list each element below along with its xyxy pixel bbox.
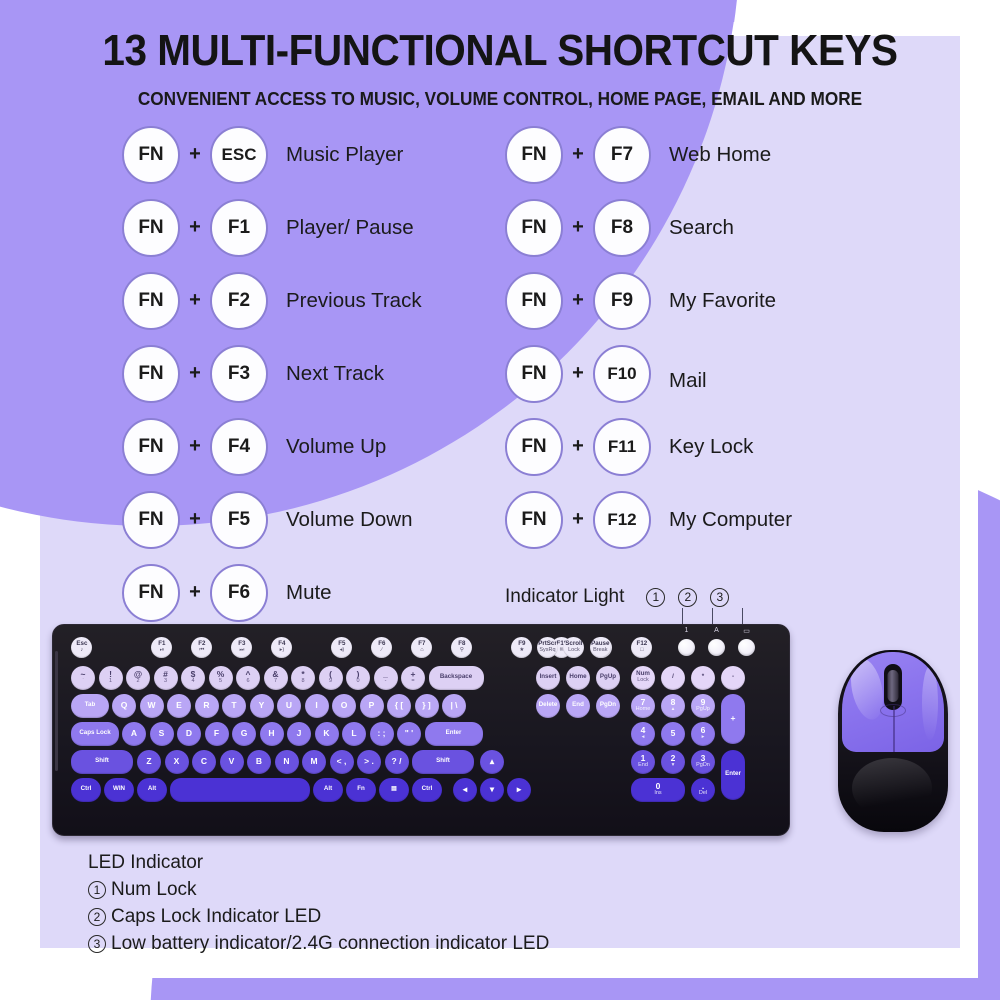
key-secondary-legend: ★ [519, 648, 524, 654]
key-primary-legend: ◂ [463, 785, 467, 794]
keyboard-key-letter: W [140, 694, 164, 718]
keyboard-key-letter: } ] [415, 694, 439, 718]
keyboard-key-caps-lock: Caps Lock [71, 722, 119, 746]
keyboard-key-letter: U [277, 694, 301, 718]
key-primary-legend: Enter [725, 771, 741, 778]
key-primary-legend: Shift [436, 758, 450, 765]
mouse-highlight-right [922, 666, 938, 740]
key-primary-legend: End [572, 702, 584, 709]
key-secondary-legend: ⏯ [160, 648, 164, 654]
shortcut-function-key: ESC [210, 126, 268, 184]
led-legend-marker: 1 [88, 881, 106, 899]
shortcut-function-key: F10 [593, 345, 651, 403]
keyboard-key-letter: C [192, 750, 216, 774]
keyboard-key-number: !1 [99, 666, 123, 690]
shortcut-action-label: Search [669, 216, 734, 240]
keyboard-key-arrow-down: ▾ [480, 778, 504, 802]
keyboard-key-alt-right: Alt [313, 778, 343, 802]
plus-symbol: + [563, 289, 593, 312]
keyboard-key-letter: " ' [397, 722, 421, 746]
keyboard-key-letter: ? / [385, 750, 409, 774]
key-primary-legend: U [286, 701, 292, 710]
keyboard-key-arrow-right: ▸ [507, 778, 531, 802]
keyboard-key-alt-left: Alt [137, 778, 167, 802]
key-primary-legend: X [174, 757, 180, 766]
keyboard-key-numpad: 4◂ [631, 722, 655, 746]
led-glyph-icon: 1 [678, 627, 695, 634]
led-legend-item: 3Low battery indicator/2.4G connection i… [88, 931, 549, 958]
shortcut-action-label: Player/ Pause [286, 216, 414, 240]
key-secondary-legend: 4 [191, 679, 194, 685]
mouse-lower-highlight [852, 758, 932, 818]
key-primary-legend: B [256, 757, 262, 766]
shortcut-row: FN+F11Key Lock [505, 410, 792, 483]
keyboard-key-fn: Fn [346, 778, 376, 802]
shortcut-row: FN+ESCMusic Player [122, 118, 422, 191]
shortcut-action-label: Previous Track [286, 289, 422, 313]
shortcut-row: FN+F12My Computer [505, 483, 792, 556]
key-primary-legend: Y [259, 701, 265, 710]
keyboard-key-number: ^6 [236, 666, 260, 690]
key-primary-legend: Backspace [440, 674, 472, 681]
led-legend-text: Num Lock [111, 879, 197, 900]
shortcut-row: FN+F3Next Track [122, 337, 422, 410]
key-secondary-legend: ▸) [280, 648, 285, 654]
keyboard-key-letter: < , [330, 750, 354, 774]
plus-symbol: + [180, 435, 210, 458]
keyboard-led-indicator [678, 639, 695, 656]
key-primary-legend: M [310, 757, 317, 766]
keyboard-key-number: (9 [319, 666, 343, 690]
indicator-marker-group: 123 [646, 588, 729, 607]
keyboard-key-numpad-enter: Enter [721, 750, 745, 800]
keyboard-key-number: *8 [291, 666, 315, 690]
key-primary-legend: { [ [395, 701, 404, 710]
shortcut-modifier-key: FN [505, 418, 563, 476]
keyboard-key-letter: I [305, 694, 329, 718]
led-legend-item: 2Caps Lock Indicator LED [88, 904, 549, 931]
key-secondary-legend: ⏭ [239, 648, 244, 654]
led-legend-marker: 2 [88, 908, 106, 926]
keyboard-key-system: ScrollLock [563, 637, 584, 658]
keyboard-key-nav: End [566, 694, 590, 718]
keyboard-key-ctrl-right: Ctrl [412, 778, 442, 802]
keyboard-key-numpad: 2▾ [661, 750, 685, 774]
key-primary-legend: E [176, 701, 182, 710]
key-primary-legend: K [323, 729, 329, 738]
key-primary-legend: ▤ [391, 786, 397, 793]
shortcut-function-key: F7 [593, 126, 651, 184]
key-primary-legend: S [159, 729, 165, 738]
keyboard-key-numpad: 6▸ [691, 722, 715, 746]
shortcut-function-key: F4 [210, 418, 268, 476]
keyboard-key-number: $4 [181, 666, 205, 690]
key-secondary-legend: 6 [246, 679, 249, 685]
key-secondary-legend: □ [640, 648, 643, 654]
keyboard-key-letter: B [247, 750, 271, 774]
shortcut-modifier-key: FN [122, 418, 180, 476]
plus-symbol: + [563, 362, 593, 385]
keyboard-key-letter: > . [357, 750, 381, 774]
key-secondary-legend: 8 [301, 679, 304, 685]
indicator-marker: 3 [710, 588, 729, 607]
shortcut-function-key: F2 [210, 272, 268, 330]
keyboard-key-shift-right: Shift [412, 750, 474, 774]
key-secondary-legend: - [385, 679, 387, 685]
key-secondary-legend: ` [82, 679, 84, 685]
keyboard-key-number: )0 [346, 666, 370, 690]
keyboard-key-letter: K [315, 722, 339, 746]
shortcut-modifier-key: FN [505, 272, 563, 330]
shortcut-row: FN+F1Player/ Pause [122, 191, 422, 264]
keyboard-key-tab: Tab [71, 694, 109, 718]
key-primary-legend: } ] [422, 701, 431, 710]
mouse-top-shell [842, 652, 944, 752]
keyboard-key-number: _- [374, 666, 398, 690]
keyboard-key-system: PrtScrSysRq [537, 637, 558, 658]
indicator-light-label: Indicator Light [505, 586, 624, 608]
indicator-marker: 1 [646, 588, 665, 607]
plus-symbol: + [563, 435, 593, 458]
key-primary-legend: ▸ [517, 785, 521, 794]
keyboard-key-fn-row: F3⏭ [231, 637, 252, 658]
led-legend-heading: LED Indicator [88, 850, 549, 877]
page-title: 13 MULTI-FUNCTIONAL SHORTCUT KEYS [40, 26, 960, 76]
plus-symbol: + [180, 362, 210, 385]
header: 13 MULTI-FUNCTIONAL SHORTCUT KEYS CONVEN… [0, 0, 1000, 110]
key-primary-legend: Caps Lock [79, 730, 110, 737]
led-glyph-icon: A [708, 627, 725, 634]
key-primary-legend: Enter [446, 730, 462, 737]
keyboard-key-numpad: 1End [631, 750, 655, 774]
led-legend-text: Low battery indicator/2.4G connection in… [111, 933, 549, 954]
keyboard-key-numpad: * [691, 666, 715, 690]
key-primary-legend: ? / [392, 757, 402, 766]
keyboard-key-fn-row: F9★ [511, 637, 532, 658]
key-primary-legend: Tab [85, 702, 96, 709]
keyboard-key-fn-row: F4▸) [271, 637, 292, 658]
key-primary-legend: J [297, 729, 302, 738]
shortcut-row: FN+F5Volume Down [122, 483, 422, 556]
key-primary-legend: ▴ [490, 757, 494, 766]
key-primary-legend: Delete [539, 702, 558, 709]
plus-symbol: + [180, 289, 210, 312]
shortcut-modifier-key: FN [505, 491, 563, 549]
key-primary-legend: / [672, 674, 674, 681]
keyboard-key-letter: Q [112, 694, 136, 718]
keyboard-key-letter: X [165, 750, 189, 774]
key-primary-legend: F [214, 729, 219, 738]
key-secondary-legend: 2 [136, 679, 139, 685]
key-primary-legend: G [241, 729, 248, 738]
key-secondary-legend: Ins [654, 791, 661, 797]
keyboard-key-win: WIN [104, 778, 134, 802]
key-secondary-legend: ⌂ [420, 648, 423, 654]
shortcut-function-key: F11 [593, 418, 651, 476]
key-primary-legend: Alt [148, 786, 156, 793]
keyboard-key-nav: Insert [536, 666, 560, 690]
keyboard-product-image: Esc♪F1⏯F2⏮F3⏭F4▸)F5◂)F6∕F7⌂F8⚲F9★F10✉F11… [52, 624, 790, 836]
shortcut-modifier-key: FN [122, 199, 180, 257]
plus-symbol: + [180, 508, 210, 531]
keyboard-key-fn-row: F1⏯ [151, 637, 172, 658]
shortcut-modifier-key: FN [505, 126, 563, 184]
key-primary-legend: 5 [671, 729, 676, 738]
keyboard-key-fn-row: Esc♪ [71, 637, 92, 658]
shortcut-row: FN+F8Search [505, 191, 792, 264]
key-primary-legend: Fn [357, 786, 365, 793]
shortcut-action-label: My Computer [669, 508, 792, 532]
keyboard-key-letter: J [287, 722, 311, 746]
keyboard-key-numpad-decimal: .Del [691, 778, 715, 802]
shortcut-action-label: Mute [286, 581, 332, 605]
key-secondary-legend: PgUp [696, 707, 710, 713]
led-glyph-icon: ▭ [738, 627, 755, 635]
shortcut-action-label: Volume Down [286, 508, 412, 532]
keyboard-key-number: #3 [154, 666, 178, 690]
keyboard-key-letter: N [275, 750, 299, 774]
keyboard-key-numpad: 9PgUp [691, 694, 715, 718]
shortcut-row: FN+F6Mute [122, 556, 422, 629]
key-secondary-legend: End [638, 763, 648, 769]
keyboard-key-fn-row: F7⌂ [411, 637, 432, 658]
keyboard-key-number: ~` [71, 666, 95, 690]
keyboard-key-numpad: 5 [661, 722, 685, 746]
keyboard-key-number: += [401, 666, 425, 690]
keyboard-key-letter: Z [137, 750, 161, 774]
key-primary-legend: > . [364, 757, 374, 766]
keyboard-key-letter: { [ [387, 694, 411, 718]
keyboard-key-letter: L [342, 722, 366, 746]
key-secondary-legend: ⏮ [199, 648, 204, 654]
key-primary-legend: PgUp [600, 674, 616, 681]
keyboard-key-nav: PgDn [596, 694, 620, 718]
shortcut-function-key: F1 [210, 199, 268, 257]
keyboard-key-letter: A [122, 722, 146, 746]
keyboard-key-letter: | \ [442, 694, 466, 718]
key-primary-legend: WIN [113, 786, 125, 793]
key-secondary-legend: 3 [164, 679, 167, 685]
led-legend-item: 1Num Lock [88, 877, 549, 904]
key-primary-legend: N [283, 757, 289, 766]
keyboard-key-nav: Delete [536, 694, 560, 718]
shortcut-action-label: Key Lock [669, 435, 753, 459]
plus-symbol: + [563, 143, 593, 166]
key-secondary-legend: ◂ [642, 735, 645, 741]
keyboard-key-nav: Home [566, 666, 590, 690]
key-secondary-legend: ▾ [672, 763, 675, 769]
key-primary-legend: C [201, 757, 207, 766]
key-secondary-legend: Break [593, 648, 607, 654]
indicator-marker: 2 [678, 588, 697, 607]
keyboard-key-fn-row: F12□ [631, 637, 652, 658]
shortcut-function-key: F3 [210, 345, 268, 403]
plus-symbol: + [180, 216, 210, 239]
plus-symbol: + [180, 581, 210, 604]
key-secondary-legend: Home [636, 707, 651, 713]
shortcut-modifier-key: FN [122, 345, 180, 403]
shortcut-row: FN+F9My Favorite [505, 264, 792, 337]
key-secondary-legend: Lock [568, 648, 580, 654]
page-subtitle: CONVENIENT ACCESS TO MUSIC, VOLUME CONTR… [35, 88, 965, 110]
shortcut-function-key: F8 [593, 199, 651, 257]
key-primary-legend: Z [146, 757, 151, 766]
keyboard-key-letter: D [177, 722, 201, 746]
key-primary-legend: P [369, 701, 375, 710]
key-secondary-legend: 7 [274, 679, 277, 685]
keyboard-key-letter: : ; [370, 722, 394, 746]
key-primary-legend: A [131, 729, 137, 738]
keyboard-key-numpad-zero: 0Ins [631, 778, 685, 802]
shortcut-row: FN+F10Mail [505, 337, 792, 410]
shortcut-action-label: Music Player [286, 143, 403, 167]
key-primary-legend: Home [569, 674, 586, 681]
key-primary-legend: I [315, 701, 317, 710]
keyboard-led-indicator [738, 639, 755, 656]
key-secondary-legend: ◂) [340, 648, 345, 654]
keyboard-key-letter: Y [250, 694, 274, 718]
key-primary-legend: : ; [377, 729, 385, 738]
shortcut-action-label: My Favorite [669, 289, 776, 313]
shortcut-list: FN+ESCMusic PlayerFN+F1Player/ PauseFN+F… [0, 118, 1000, 618]
keyboard-key-letter: E [167, 694, 191, 718]
keyboard-key-numpad: / [661, 666, 685, 690]
keyboard-key-system: PauseBreak [590, 637, 611, 658]
keyboard-key-menu: ▤ [379, 778, 409, 802]
shortcut-action-label: Volume Up [286, 435, 386, 459]
keyboard-key-spacebar [170, 778, 310, 802]
indicator-light-callout: Indicator Light 123 [505, 586, 729, 608]
key-primary-legend: Q [121, 701, 128, 710]
key-secondary-legend: ⚲ [460, 648, 464, 654]
led-legend: LED Indicator 1Num Lock 2Caps Lock Indic… [88, 850, 549, 958]
shortcut-function-key: F6 [210, 564, 268, 622]
shortcut-modifier-key: FN [505, 345, 563, 403]
key-secondary-legend: 1 [109, 679, 112, 685]
keyboard-key-numpad: 8▴ [661, 694, 685, 718]
key-primary-legend: Ctrl [81, 786, 92, 793]
plus-symbol: + [180, 143, 210, 166]
keyboard-key-fn-row: F5◂) [331, 637, 352, 658]
plus-symbol: + [563, 508, 593, 531]
shortcut-column-left: FN+ESCMusic PlayerFN+F1Player/ PauseFN+F… [122, 118, 422, 629]
keyboard-key-backspace: Backspace [429, 666, 484, 690]
mouse-product-image [838, 650, 948, 832]
shortcut-modifier-key: FN [122, 491, 180, 549]
key-secondary-legend: 9 [329, 679, 332, 685]
led-legend-text: Caps Lock Indicator LED [111, 906, 321, 927]
key-secondary-legend: = [411, 679, 414, 685]
key-primary-legend: - [732, 674, 734, 681]
keyboard-key-letter: P [360, 694, 384, 718]
led-legend-marker: 3 [88, 935, 106, 953]
keyboard-key-letter: H [260, 722, 284, 746]
key-primary-legend: L [351, 729, 356, 738]
keyboard-keys: Esc♪F1⏯F2⏮F3⏭F4▸)F5◂)F6∕F7⌂F8⚲F9★F10✉F11… [53, 625, 789, 835]
shortcut-row: FN+F2Previous Track [122, 264, 422, 337]
keyboard-key-letter: M [302, 750, 326, 774]
key-secondary-legend: Lock [637, 678, 649, 684]
keyboard-key-number: @2 [126, 666, 150, 690]
key-primary-legend: | \ [450, 701, 457, 710]
keyboard-key-fn-row: F6∕ [371, 637, 392, 658]
shortcut-modifier-key: FN [122, 272, 180, 330]
keyboard-key-fn-row: F8⚲ [451, 637, 472, 658]
key-primary-legend: D [186, 729, 192, 738]
key-primary-legend: Insert [540, 674, 557, 681]
key-primary-legend: + [731, 714, 736, 723]
shortcut-function-key: F9 [593, 272, 651, 330]
keyboard-key-number: %5 [209, 666, 233, 690]
key-primary-legend: Alt [324, 786, 332, 793]
shortcut-action-label: Web Home [669, 143, 771, 167]
keyboard-key-ctrl-left: Ctrl [71, 778, 101, 802]
keyboard-key-numpad-plus: + [721, 694, 745, 744]
key-secondary-legend: SysRq [539, 648, 555, 654]
key-secondary-legend: Del [699, 791, 707, 797]
key-secondary-legend: ∕ [381, 648, 382, 654]
key-secondary-legend: ♪ [81, 648, 84, 654]
plus-symbol: + [563, 216, 593, 239]
shortcut-function-key: F12 [593, 491, 651, 549]
shortcut-column-right: FN+F7Web HomeFN+F8SearchFN+F9My Favorite… [505, 118, 792, 556]
keyboard-key-letter: R [195, 694, 219, 718]
infographic-canvas: 13 MULTI-FUNCTIONAL SHORTCUT KEYS CONVEN… [0, 0, 1000, 1000]
keyboard-key-letter: S [150, 722, 174, 746]
key-primary-legend: T [231, 701, 236, 710]
keyboard-key-enter: Enter [425, 722, 483, 746]
key-secondary-legend: PgDn [696, 763, 710, 769]
key-primary-legend: H [268, 729, 274, 738]
shortcut-row: FN+F7Web Home [505, 118, 792, 191]
keyboard-key-nav: PgUp [596, 666, 620, 690]
keyboard-key-fn-row: F2⏮ [191, 637, 212, 658]
shortcut-action-label: Next Track [286, 362, 384, 386]
keyboard-led-indicator [708, 639, 725, 656]
key-secondary-legend: 0 [356, 679, 359, 685]
key-primary-legend: * [702, 674, 704, 681]
shortcut-modifier-key: FN [122, 126, 180, 184]
keyboard-key-letter: F [205, 722, 229, 746]
keyboard-key-numpad: 7Home [631, 694, 655, 718]
key-primary-legend: " ' [405, 729, 413, 738]
keyboard-key-numpad: NumLock [631, 666, 655, 690]
keyboard-key-letter: O [332, 694, 356, 718]
keyboard-key-numpad: - [721, 666, 745, 690]
mouse-scroll-wheel [888, 670, 899, 702]
key-primary-legend: R [203, 701, 209, 710]
keyboard-key-letter: T [222, 694, 246, 718]
key-primary-legend: Ctrl [422, 786, 433, 793]
keyboard-key-number: &7 [264, 666, 288, 690]
key-primary-legend: O [341, 701, 348, 710]
key-secondary-legend: 5 [219, 679, 222, 685]
keyboard-key-letter: V [220, 750, 244, 774]
shortcut-modifier-key: FN [505, 199, 563, 257]
keyboard-key-shift-left: Shift [71, 750, 133, 774]
keyboard-key-letter: G [232, 722, 256, 746]
key-secondary-legend: ▴ [672, 707, 675, 713]
keyboard-key-arrow-up: ▴ [480, 750, 504, 774]
shortcut-modifier-key: FN [122, 564, 180, 622]
key-primary-legend: V [229, 757, 235, 766]
keyboard-key-numpad: 3PgDn [691, 750, 715, 774]
mouse-dpi-button [880, 704, 906, 717]
key-secondary-legend: ▸ [702, 735, 705, 741]
key-primary-legend: ▾ [490, 785, 494, 794]
key-primary-legend: W [147, 701, 155, 710]
key-primary-legend: Shift [95, 758, 109, 765]
